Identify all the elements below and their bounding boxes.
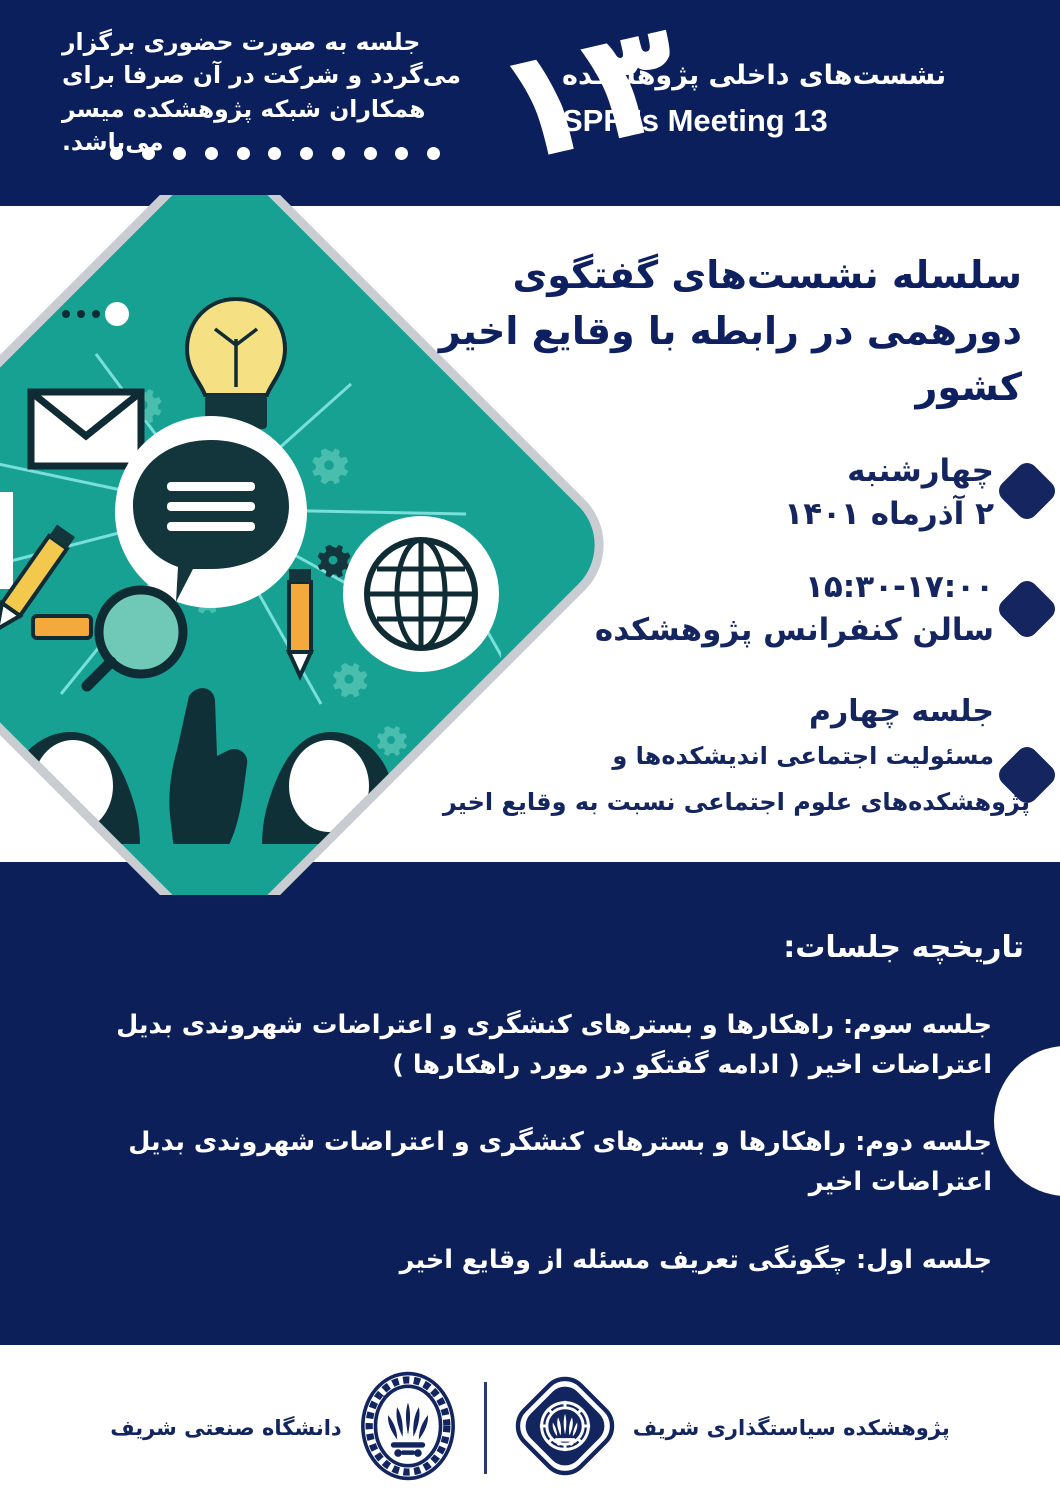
- meeting-number: ۱۳: [482, 0, 694, 187]
- pencil-icon-2: [289, 569, 311, 676]
- history-item: جلسه اول: چگونگی تعریف مسئله از وقایع اخ…: [84, 1240, 992, 1280]
- footer: پژوهشکده سیاستگذاری شریف: [0, 1368, 1060, 1488]
- history-heading: تاریخچه جلسات:: [64, 930, 1024, 965]
- play-dots-icon-1: [33, 302, 129, 326]
- event-weekday: چهارشنبه: [574, 450, 994, 493]
- dot: [205, 147, 218, 160]
- footer-university-label: دانشگاه صنعتی شریف: [110, 1416, 342, 1440]
- dot: [237, 147, 250, 160]
- time-bullet: [994, 576, 1059, 641]
- footer-university: دانشگاه صنعتی شریف: [110, 1370, 458, 1486]
- pointing-hand-icon: [169, 688, 247, 844]
- dot: [300, 147, 313, 160]
- sharif-university-logo-icon: [358, 1370, 458, 1486]
- event-time-range: ۱۵:۳۰-۱۷:۰۰: [805, 566, 994, 609]
- attendance-notice: جلسه به صورت حضوری برگزار می‌گردد و شرکت…: [62, 26, 462, 159]
- envelope-icon: [31, 392, 141, 466]
- dot: [268, 147, 281, 160]
- footer-divider: [484, 1382, 487, 1474]
- dot: [395, 147, 408, 160]
- notice-dot-row: [110, 147, 440, 160]
- date-bullet: [994, 458, 1059, 523]
- dot: [110, 147, 123, 160]
- session-number-label: جلسه چهارم: [524, 694, 994, 729]
- event-venue: سالن کنفرانس پژوهشکده: [514, 609, 994, 652]
- footer-institute: پژوهشکده سیاستگذاری شریف: [513, 1374, 950, 1482]
- dot: [332, 147, 345, 160]
- dot: [173, 147, 186, 160]
- session-topic-line1: مسئولیت اجتماعی اندیشکده‌ها و: [494, 742, 994, 770]
- history-item: جلسه دوم: راهکارها و بسترهای کنشگری و اع…: [84, 1122, 992, 1203]
- event-date-full: ۲ آذرماه ۱۴۰۱: [574, 493, 994, 536]
- poster-root: جلسه به صورت حضوری برگزار می‌گردد و شرکت…: [0, 0, 1060, 1500]
- session-topic-line2: پژوهشکده‌های علوم اجتماعی نسبت به وقایع …: [30, 788, 1030, 816]
- globe-icon: [343, 516, 499, 672]
- event-time-venue: ۱۵:۳۰-۱۷:۰۰ سالن کنفرانس پژوهشکده: [514, 566, 994, 652]
- speech-bubble-icon: [115, 416, 307, 608]
- dot: [142, 147, 155, 160]
- series-title-fa: نشست‌های داخلی پژوهشکده: [562, 60, 982, 91]
- footer-institute-label: پژوهشکده سیاستگذاری شریف: [633, 1416, 950, 1440]
- magnifier-icon: [33, 590, 183, 686]
- spri-diamond-logo-icon: [513, 1374, 617, 1482]
- dot: [427, 147, 440, 160]
- event-date: چهارشنبه ۲ آذرماه ۱۴۰۱: [574, 450, 994, 536]
- gear-icon-dark: [318, 545, 351, 578]
- series-title-en: SPRI's Meeting 13: [562, 103, 982, 139]
- history-item: جلسه سوم: راهکارها و بسترهای کنشگری و اع…: [84, 1005, 992, 1086]
- page-title: سلسله نشست‌های گفتگوی دورهمی در رابطه با…: [422, 248, 1022, 416]
- dot: [364, 147, 377, 160]
